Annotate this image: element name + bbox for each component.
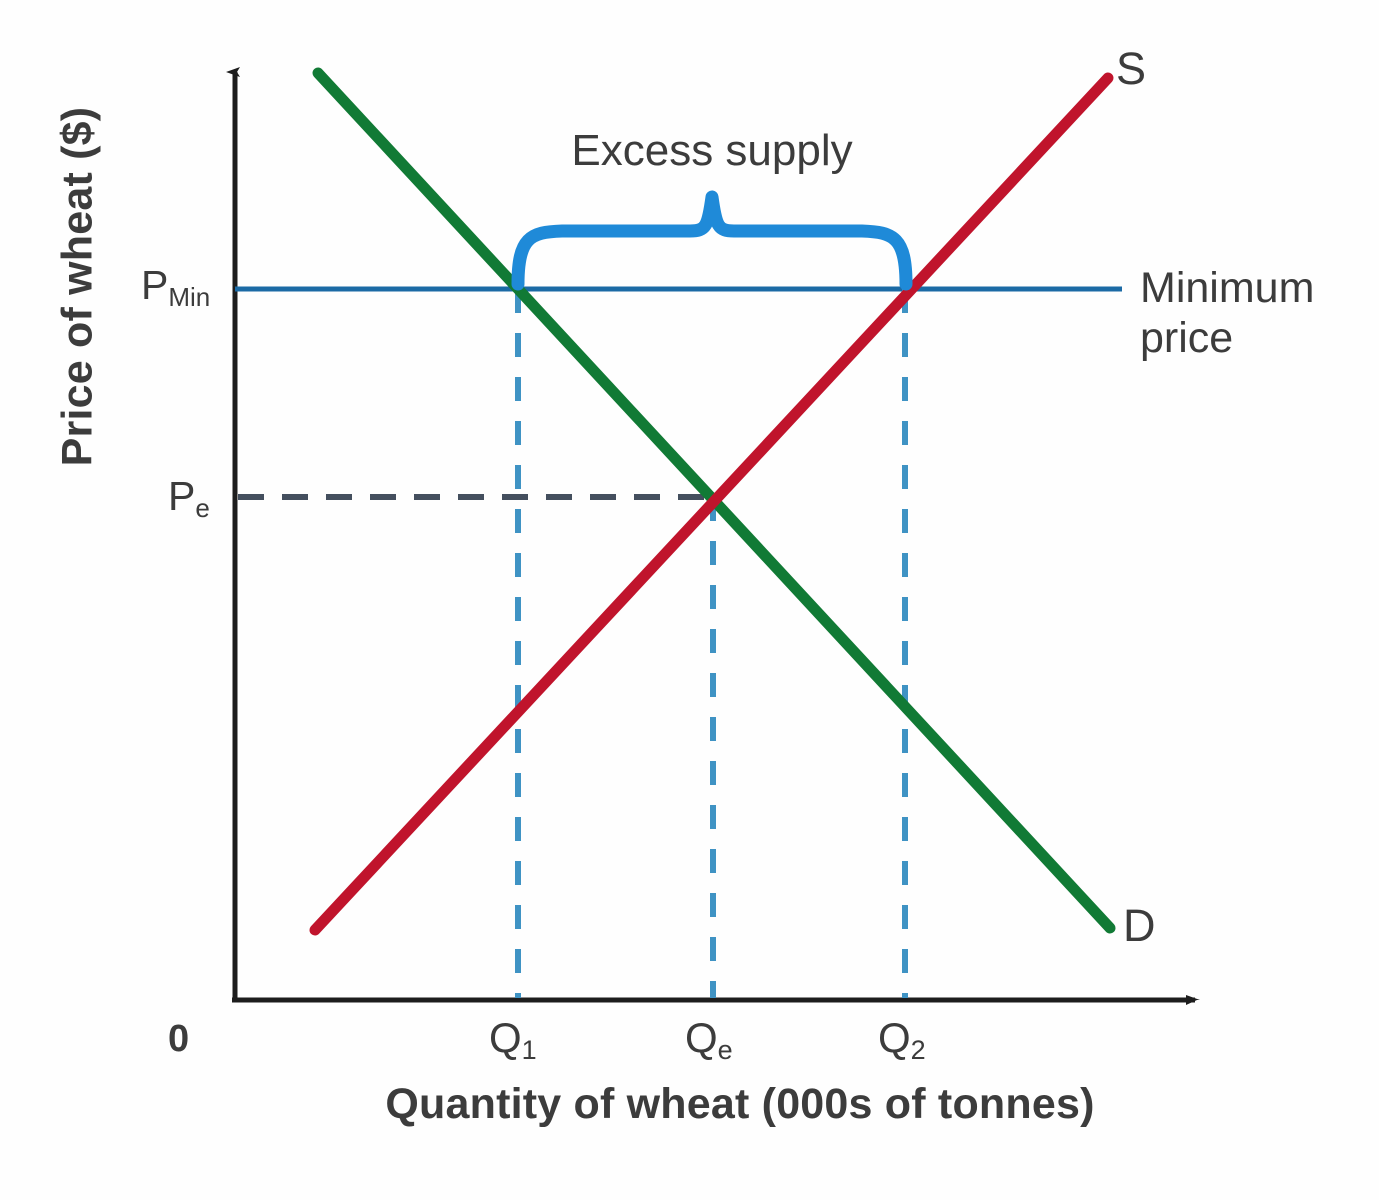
x-tick-label-qe: Qe	[685, 1014, 733, 1062]
pe-base: P	[168, 473, 195, 519]
y-tick-label-pmin: PMin	[141, 262, 210, 309]
y-axis-title: Price of wheat ($)	[54, 57, 103, 517]
pmin-base: P	[141, 262, 168, 308]
demand-curve-label: D	[1123, 900, 1156, 952]
qe-subscript: e	[718, 1035, 733, 1065]
q1-subscript: 1	[522, 1035, 537, 1065]
excess-supply-label: Excess supply	[497, 126, 927, 176]
minimum-price-line-2: price	[1140, 314, 1233, 362]
x-axis-title: Quantity of wheat (000s of tonnes)	[200, 1080, 1280, 1129]
pe-subscript: e	[195, 493, 209, 523]
x-tick-label-q2: Q2	[878, 1014, 926, 1062]
minimum-price-line-1: Minimum	[1140, 264, 1314, 312]
price-floor-chart: Price of wheat ($) Quantity of wheat (00…	[0, 0, 1379, 1200]
x-tick-label-q1: Q1	[489, 1014, 537, 1062]
supply-curve-label: S	[1116, 43, 1146, 95]
origin-label: 0	[168, 1018, 189, 1061]
minimum-price-label: Minimumprice	[1140, 263, 1314, 363]
y-tick-label-pe: Pe	[168, 473, 210, 520]
q1-base: Q	[489, 1014, 522, 1061]
q2-base: Q	[878, 1014, 911, 1061]
q2-subscript: 2	[911, 1035, 926, 1065]
qe-base: Q	[685, 1014, 718, 1061]
pmin-subscript: Min	[168, 282, 210, 312]
excess-supply-brace	[518, 197, 906, 284]
